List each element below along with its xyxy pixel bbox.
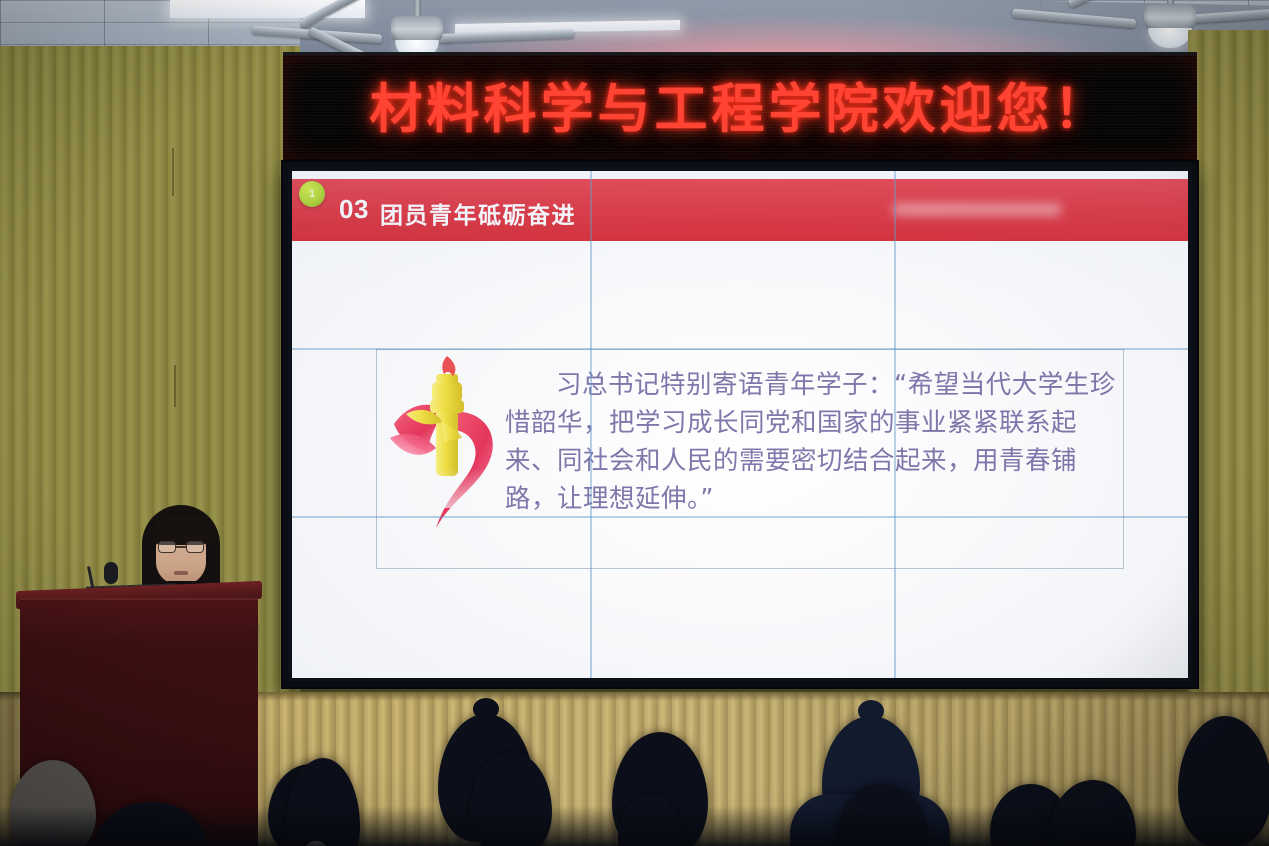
- videowall-seam-horizontal-2: [292, 516, 1188, 518]
- microphone-icon: [104, 562, 118, 584]
- foreground-shadow: [0, 806, 1269, 846]
- audience-hair-bun: [858, 700, 884, 722]
- slide-step-badge: 1: [299, 181, 325, 207]
- video-wall-bezel: 1 03 团员青年砥砺奋进: [283, 162, 1197, 687]
- audience-silhouettes: [0, 690, 1269, 846]
- glasses-lens-left: [158, 541, 176, 553]
- glasses-bridge: [176, 546, 186, 548]
- wall-right-panel: [1188, 30, 1269, 790]
- audience-hair-bun: [473, 698, 499, 720]
- videowall-seam-vertical-2: [894, 171, 896, 678]
- slide-content-box: 习总书记特别寄语青年学子：“希望当代大学生珍惜韶华，把学习成长同党和国家的事业紧…: [376, 349, 1124, 569]
- screen-glare: [892, 203, 1062, 216]
- presentation-screen[interactable]: 1 03 团员青年砥砺奋进: [292, 171, 1188, 678]
- wall-seam-lower: [174, 365, 176, 407]
- led-banner-text: 材料科学与工程学院欢迎您！: [283, 67, 1197, 143]
- speaker-glasses-icon: [158, 541, 204, 553]
- slide-section-title: 团员青年砥砺奋进: [380, 196, 576, 230]
- videowall-seam-horizontal-1: [292, 348, 1188, 350]
- lecture-hall-scene: 材料科学与工程学院欢迎您！ 1 03 团员青年砥砺奋进: [0, 0, 1269, 846]
- youth-league-torch-icon: [384, 352, 516, 530]
- wall-seam-upper: [172, 148, 174, 196]
- slide-header-band: 1 03 团员青年砥砺奋进: [292, 179, 1188, 241]
- slide-quote-text: 习总书记特别寄语青年学子：“希望当代大学生珍惜韶华，把学习成长同党和国家的事业紧…: [505, 366, 1123, 518]
- glasses-lens-right: [186, 541, 204, 553]
- videowall-seam-vertical-1: [590, 171, 592, 678]
- led-banner: 材料科学与工程学院欢迎您！: [283, 52, 1197, 162]
- speaker-mouth: [174, 571, 188, 575]
- slide-section-number: 03: [339, 194, 369, 225]
